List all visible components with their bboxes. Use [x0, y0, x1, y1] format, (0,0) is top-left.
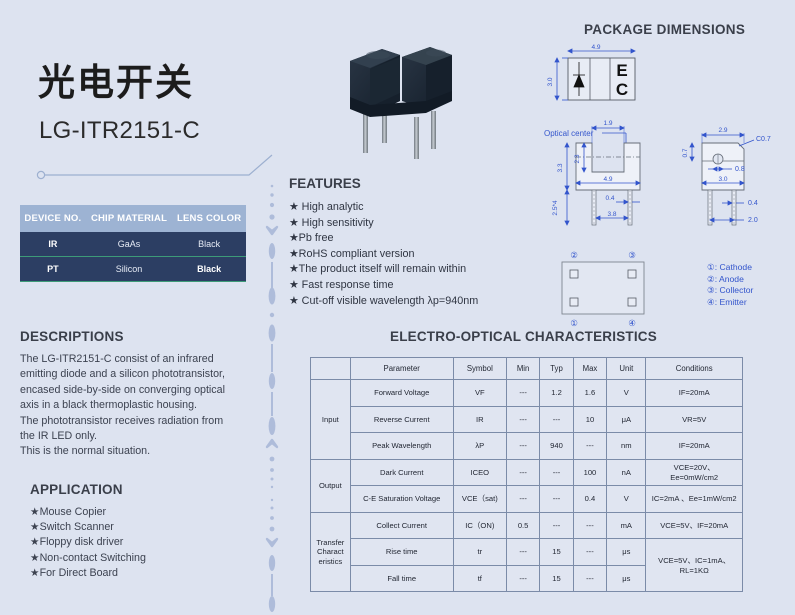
- features-heading: FEATURES: [289, 176, 478, 191]
- cell-parameter: Collect Current: [350, 512, 453, 539]
- package-drawings: 4.9 3.0 E C Optical center: [540, 40, 795, 335]
- title-rule: [34, 154, 289, 188]
- cell-device: PT: [20, 257, 86, 282]
- col-min: Min: [506, 358, 539, 380]
- list-item: ★Floppy disk driver: [30, 535, 146, 550]
- cell-typ: 15: [540, 539, 573, 566]
- cell-symbol: tr: [453, 539, 506, 566]
- cell-parameter: Forward Voltage: [350, 380, 453, 407]
- cell-conditions: VCE=5V、IF=20mA: [646, 512, 743, 539]
- svg-text:①: ①: [570, 318, 578, 328]
- cell-symbol: IC（ON): [453, 512, 506, 539]
- cell-unit: μs: [607, 565, 646, 592]
- svg-text:0.8: 0.8: [735, 166, 745, 173]
- table-row: C-E Saturation Voltage VCE（sat) --- --- …: [311, 486, 743, 513]
- model-number: LG-ITR2151-C: [39, 117, 200, 145]
- table-row: PT Silicon Black: [20, 257, 246, 282]
- group-input: Input: [311, 380, 351, 460]
- list-item: ★Mouse Copier: [30, 505, 146, 520]
- svg-text:3.8: 3.8: [607, 211, 616, 218]
- svg-text:2.0: 2.0: [748, 217, 758, 224]
- cell-conditions: IC=2mA 、Ee=1mW/cm2: [646, 486, 743, 513]
- cell-symbol: tf: [453, 565, 506, 592]
- svg-text:C0.7: C0.7: [756, 136, 771, 143]
- table-row: Reverse Current IR --- --- 10 μA VR=5V: [311, 406, 743, 433]
- cell-symbol: IR: [453, 406, 506, 433]
- cell-max: 0.4: [573, 486, 606, 513]
- svg-text:1.9: 1.9: [603, 120, 612, 127]
- table-row: Transfer Charact eristics Collect Curren…: [311, 512, 743, 539]
- group-transfer: Transfer Charact eristics: [311, 512, 351, 592]
- table-row: Rise time tr --- 15 --- μs VCE=5V、IC=1mA…: [311, 539, 743, 566]
- svg-text:2.9: 2.9: [718, 127, 727, 134]
- col-unit: Unit: [607, 358, 646, 380]
- col-symbol: Symbol: [453, 358, 506, 380]
- cell-max: ---: [573, 512, 606, 539]
- cell-conditions: VCE=20V、 Ee=0mW/cm2: [646, 459, 743, 486]
- table-row: Peak Wavelength λP --- 940 --- nm IF=20m…: [311, 433, 743, 460]
- cell-min: ---: [506, 539, 539, 566]
- list-item: ★For Direct Board: [30, 566, 146, 581]
- product-photo: [330, 35, 490, 165]
- list-item: ②: Anode: [707, 274, 753, 286]
- cell-conditions: IF=20mA: [646, 380, 743, 407]
- list-item: ★ High sensitivity: [289, 216, 478, 232]
- table-row: Input Forward Voltage VF --- 1.2 1.6 V I…: [311, 380, 743, 407]
- cell-min: 0.5: [506, 512, 539, 539]
- svg-text:②: ②: [570, 250, 578, 260]
- cell-max: ---: [573, 565, 606, 592]
- cell-symbol: VCE（sat): [453, 486, 506, 513]
- package-dimensions-heading: PACKAGE DIMENSIONS: [584, 22, 745, 37]
- cell-conditions: IF=20mA: [646, 433, 743, 460]
- table-row: IR GaAs Black: [20, 232, 246, 257]
- cell-max: 100: [573, 459, 606, 486]
- cell-symbol: ICEO: [453, 459, 506, 486]
- list-item: ★ Fast response time: [289, 278, 478, 294]
- svg-text:Optical center: Optical center: [544, 129, 594, 138]
- svg-text:4.9: 4.9: [591, 44, 600, 51]
- cell-min: ---: [506, 565, 539, 592]
- cell-unit: μs: [607, 539, 646, 566]
- cell-max: 1.6: [573, 380, 606, 407]
- cell-conditions: VR=5V: [646, 406, 743, 433]
- col-device-no: DEVICE NO.: [20, 205, 86, 232]
- cell-device: IR: [20, 232, 86, 257]
- cell-unit: mA: [607, 512, 646, 539]
- datasheet-page: 光电开关 LG-ITR2151-C DEVICE NO. CHIP MATERI…: [0, 0, 795, 615]
- cell-min: ---: [506, 486, 539, 513]
- cell-unit: V: [607, 486, 646, 513]
- list-item: ★ High analytic: [289, 200, 478, 216]
- svg-text:④: ④: [628, 318, 636, 328]
- cell-typ: ---: [540, 512, 573, 539]
- svg-text:0.4: 0.4: [605, 195, 614, 202]
- side-view-drawing: 2.9 0.7 C0.7 0.8: [682, 127, 771, 225]
- cell-lens: Black: [172, 232, 246, 257]
- table-row: Output Dark Current ICEO --- --- 100 nA …: [311, 459, 743, 486]
- svg-text:4.9: 4.9: [603, 176, 612, 183]
- cell-conditions: VCE=5V、IC=1mA、 RL=1KΩ: [646, 539, 743, 592]
- cell-material: Silicon: [86, 257, 173, 282]
- pin-layout-drawing: ② ③ ① ④: [562, 250, 644, 328]
- cell-unit: nm: [607, 433, 646, 460]
- decorative-divider: [262, 182, 282, 615]
- list-item: ★RoHS compliant version: [289, 247, 478, 263]
- cell-symbol: λP: [453, 433, 506, 460]
- front-view-drawing: Optical center 1.9 2.3: [544, 120, 640, 225]
- cell-typ: ---: [540, 486, 573, 513]
- cell-unit: μA: [607, 406, 646, 433]
- cell-typ: 1.2: [540, 380, 573, 407]
- cell-parameter: Rise time: [350, 539, 453, 566]
- svg-text:C: C: [616, 80, 628, 99]
- col-chip-material: CHIP MATERIAL: [86, 205, 173, 232]
- list-item: ★ Cut-off visible wavelength λp=940nm: [289, 294, 478, 310]
- cell-symbol: VF: [453, 380, 506, 407]
- list-item: ★Switch Scanner: [30, 520, 146, 535]
- cell-typ: ---: [540, 459, 573, 486]
- svg-text:2.3: 2.3: [574, 154, 581, 163]
- list-item: ★The product itself will remain within: [289, 262, 478, 278]
- cell-typ: 940: [540, 433, 573, 460]
- cell-max: ---: [573, 539, 606, 566]
- cell-min: ---: [506, 459, 539, 486]
- list-item: ★Pb free: [289, 231, 478, 247]
- electro-optical-table: Parameter Symbol Min Typ Max Unit Condit…: [310, 357, 743, 592]
- eoc-header-row: Parameter Symbol Min Typ Max Unit Condit…: [311, 358, 743, 380]
- features-section: FEATURES ★ High analytic ★ High sensitiv…: [289, 176, 478, 309]
- cell-typ: 15: [540, 565, 573, 592]
- svg-text:3.0: 3.0: [547, 77, 554, 86]
- application-list: ★Mouse Copier ★Switch Scanner ★Floppy di…: [30, 505, 146, 581]
- page-title-chinese: 光电开关: [38, 52, 194, 106]
- col-lens-color: LENS COLOR: [172, 205, 246, 232]
- col-parameter: Parameter: [350, 358, 453, 380]
- application-heading: APPLICATION: [30, 482, 123, 497]
- cell-unit: nA: [607, 459, 646, 486]
- col-group: [311, 358, 351, 380]
- device-table: DEVICE NO. CHIP MATERIAL LENS COLOR IR G…: [20, 205, 246, 282]
- cell-max: 10: [573, 406, 606, 433]
- svg-text:2.5*4: 2.5*4: [552, 200, 559, 216]
- col-conditions: Conditions: [646, 358, 743, 380]
- col-max: Max: [573, 358, 606, 380]
- eoc-heading: ELECTRO-OPTICAL CHARACTERISTICS: [390, 329, 657, 344]
- descriptions-heading: DESCRIPTIONS: [20, 329, 124, 344]
- cell-min: ---: [506, 380, 539, 407]
- cell-lens: Black: [172, 257, 246, 282]
- cell-parameter: Dark Current: [350, 459, 453, 486]
- cell-parameter: Peak Wavelength: [350, 433, 453, 460]
- cell-typ: ---: [540, 406, 573, 433]
- col-typ: Typ: [540, 358, 573, 380]
- pin-legend: ①: Cathode ②: Anode ③: Collector ④: Emit…: [707, 262, 753, 308]
- svg-text:3.3: 3.3: [557, 163, 564, 172]
- svg-text:3.0: 3.0: [718, 176, 727, 183]
- svg-text:0.4: 0.4: [748, 200, 758, 207]
- cell-parameter: Fall time: [350, 565, 453, 592]
- features-list: ★ High analytic ★ High sensitivity ★Pb f…: [289, 200, 478, 309]
- list-item: ④: Emitter: [707, 297, 753, 309]
- svg-text:E: E: [616, 61, 627, 80]
- cell-parameter: C-E Saturation Voltage: [350, 486, 453, 513]
- cell-material: GaAs: [86, 232, 173, 257]
- cell-unit: V: [607, 380, 646, 407]
- device-table-header-row: DEVICE NO. CHIP MATERIAL LENS COLOR: [20, 205, 246, 232]
- cell-min: ---: [506, 433, 539, 460]
- descriptions-text: The LG-ITR2151-C consist of an infrared …: [20, 352, 265, 460]
- svg-text:0.7: 0.7: [682, 148, 689, 157]
- svg-text:③: ③: [628, 250, 636, 260]
- list-item: ①: Cathode: [707, 262, 753, 274]
- group-output: Output: [311, 459, 351, 512]
- cell-min: ---: [506, 406, 539, 433]
- list-item: ③: Collector: [707, 285, 753, 297]
- cell-parameter: Reverse Current: [350, 406, 453, 433]
- top-view-drawing: 4.9 3.0 E C: [547, 44, 635, 100]
- cell-max: ---: [573, 433, 606, 460]
- list-item: ★Non-contact Switching: [30, 551, 146, 566]
